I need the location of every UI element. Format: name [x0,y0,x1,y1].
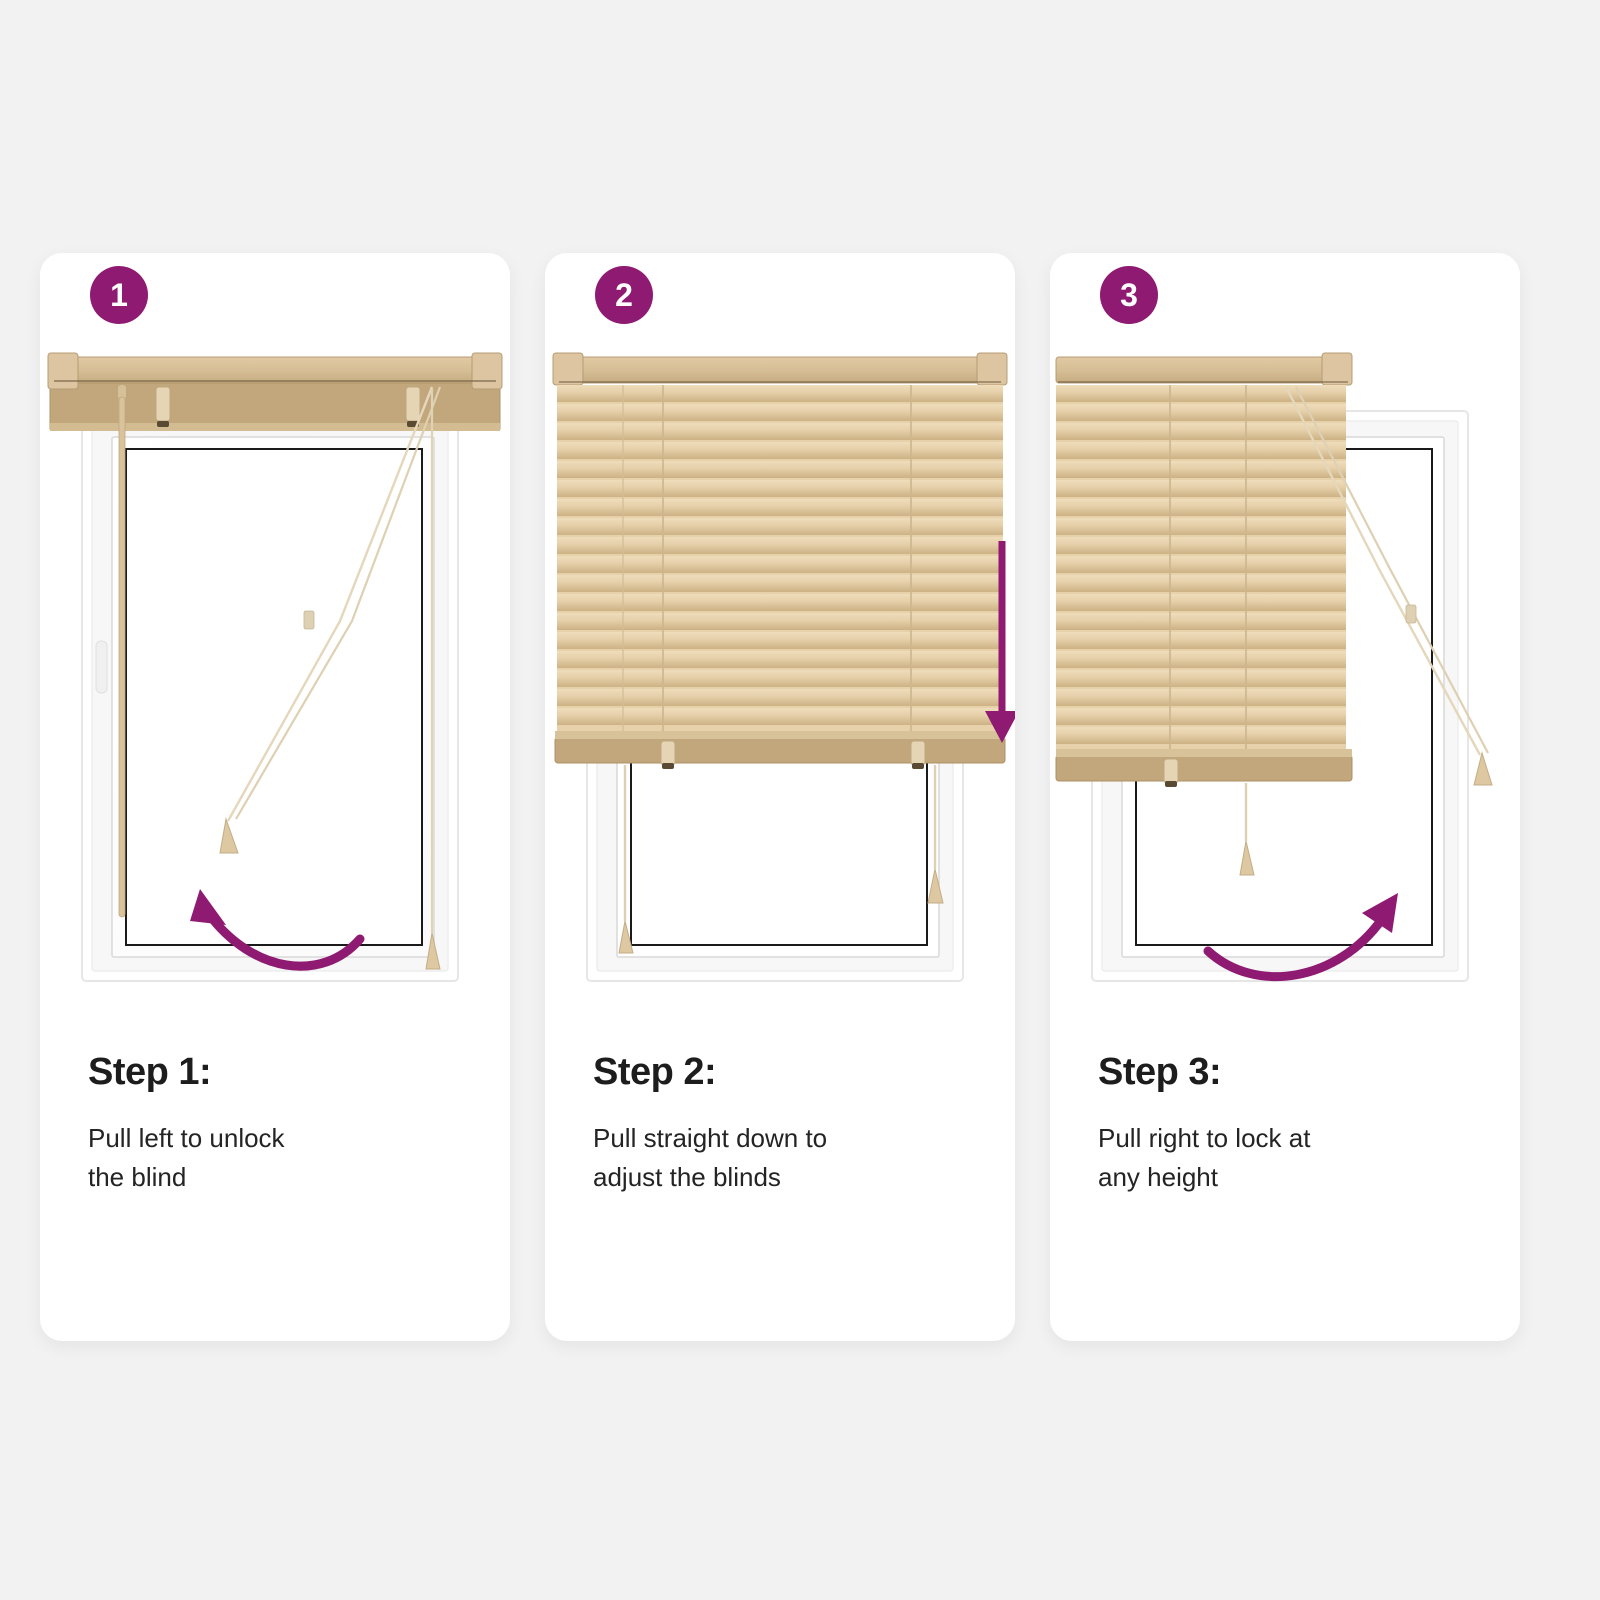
step-title-1: Step 1: [88,1053,488,1093]
step-card-2: 2 [545,253,1015,1341]
instruction-board: 1 [0,0,1600,1600]
window-frame [82,411,458,981]
blind-slats [557,385,1003,741]
illustration-step-1 [40,341,510,1021]
blind-tilt-wand [118,385,126,917]
step-badge-1: 1 [90,266,148,324]
blind-headrail [48,353,502,431]
blind-slats [1056,385,1346,761]
step-card-3: 3 [1050,253,1520,1341]
step-badge-2: 2 [595,266,653,324]
blind-bottom-rail [1056,749,1352,787]
step-card-1: 1 [40,253,510,1341]
step-badge-3: 3 [1100,266,1158,324]
caption-step-2: Step 2: Pull straight down to adjust the… [593,1053,993,1197]
caption-step-3: Step 3: Pull right to lock at any height [1098,1053,1498,1197]
illustration-step-2 [545,341,1015,1021]
step-title-3: Step 3: [1098,1053,1498,1093]
blind-headrail [553,353,1007,385]
blind-bottom-rail [555,731,1005,769]
step-description-3: Pull right to lock at any height [1098,1119,1498,1197]
step-description-1: Pull left to unlock the blind [88,1119,488,1197]
step-description-2: Pull straight down to adjust the blinds [593,1119,993,1197]
blind-headrail [1056,353,1352,385]
step-title-2: Step 2: [593,1053,993,1093]
illustration-step-3 [1050,341,1520,1021]
caption-step-1: Step 1: Pull left to unlock the blind [88,1053,488,1197]
